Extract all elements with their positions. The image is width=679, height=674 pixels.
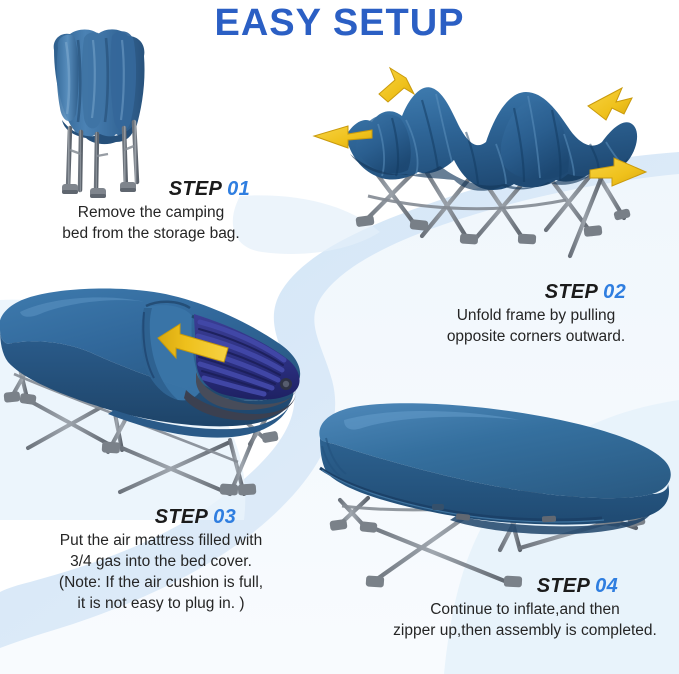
arrow-up-left-top [379, 68, 414, 102]
step-4-description: Continue to inflate,and then zipper up,t… [378, 600, 672, 642]
step-block-2: STEP02 Unfold frame by pulling opposite … [398, 281, 674, 348]
step-1-heading: STEP01 [18, 178, 284, 201]
step-4-number: 04 [595, 575, 618, 597]
arrow-up-right-top [588, 88, 632, 120]
step-3-heading: STEP03 [8, 506, 314, 529]
step-block-3: STEP03 Put the air mattress filled with … [8, 506, 314, 615]
step-block-1: STEP01 Remove the camping bed from the s… [18, 178, 284, 245]
page-title: EASY SETUP [0, 2, 679, 45]
step-1-description: Remove the camping bed from the storage … [18, 203, 284, 245]
step-block-4: STEP04 Continue to inflate,and then zipp… [378, 575, 672, 642]
step-1-label: STEP [169, 178, 222, 200]
step-1-number: 01 [227, 178, 250, 200]
step-4-label: STEP [537, 575, 590, 597]
illustration-unfolding-bed-frame [306, 50, 656, 260]
illustration-completed-bed [306, 392, 678, 598]
illustration-mattress-into-cover [0, 272, 324, 508]
step-3-label: STEP [155, 506, 208, 528]
step-2-heading: STEP02 [398, 281, 674, 304]
step-4-heading: STEP04 [378, 575, 672, 598]
step-2-number: 02 [603, 281, 626, 303]
infographic-page: EASY SETUP [0, 0, 679, 674]
step-3-number: 03 [213, 506, 236, 528]
step-2-label: STEP [545, 281, 598, 303]
step-2-description: Unfold frame by pulling opposite corners… [398, 306, 674, 348]
step-3-description: Put the air mattress filled with 3/4 gas… [8, 531, 314, 615]
